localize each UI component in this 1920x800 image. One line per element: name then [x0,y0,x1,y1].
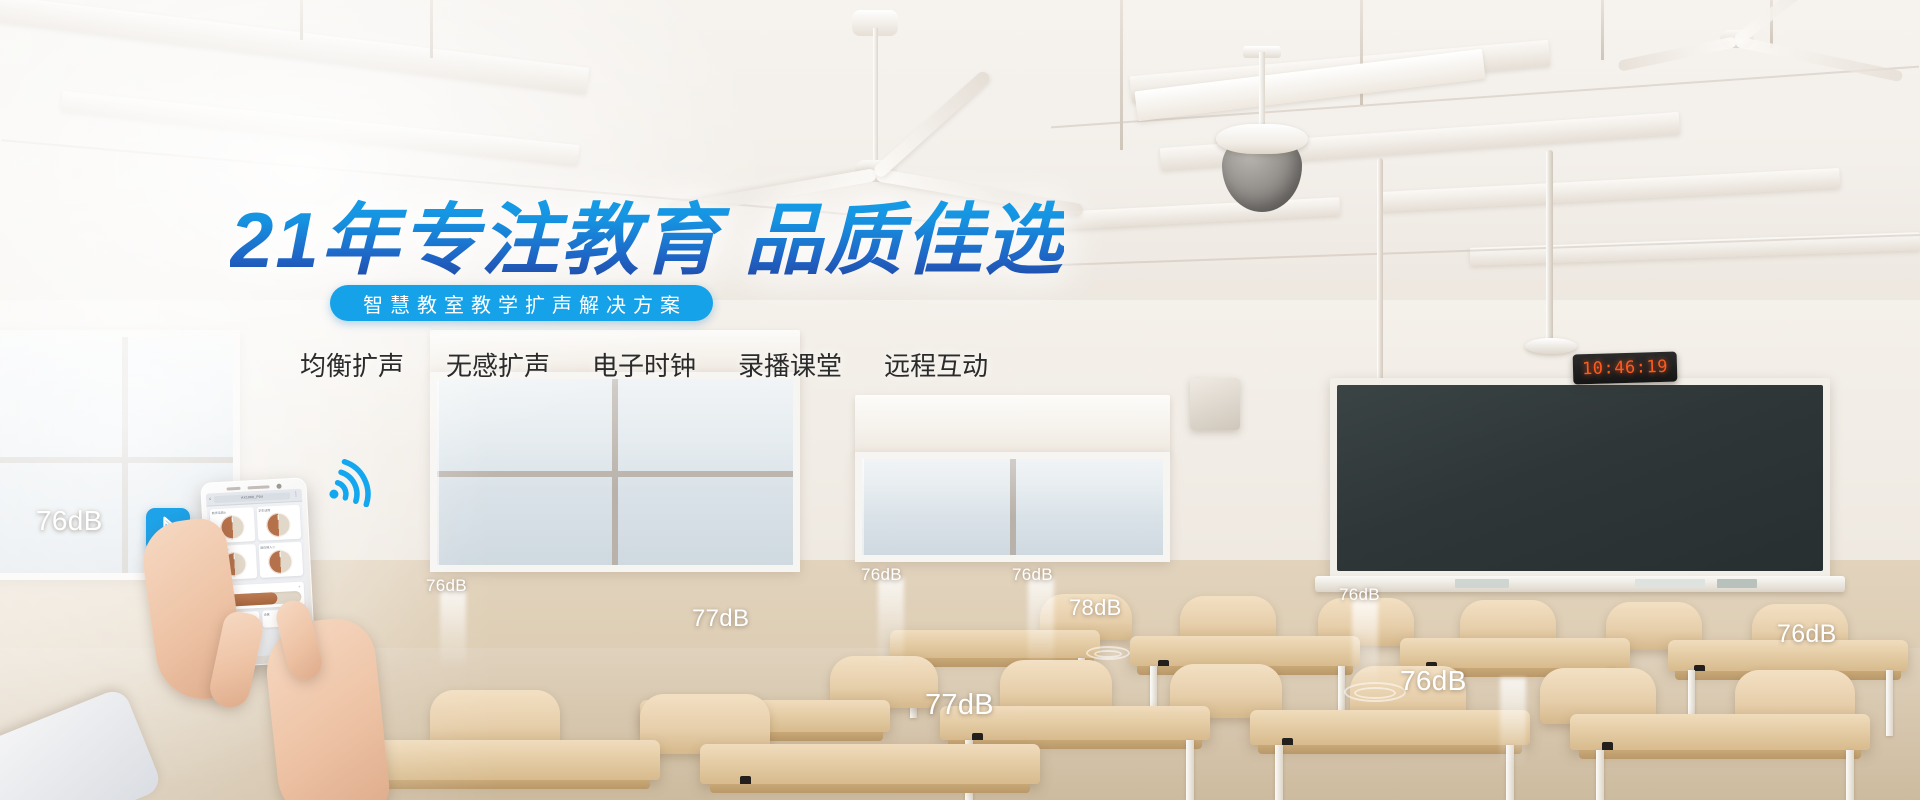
app-title: AX1060_P04 [214,492,290,503]
db-label: 76dB [36,505,103,537]
front-camera [276,483,281,488]
volume-knob[interactable] [266,512,291,537]
blackboard-rail [1315,576,1845,592]
wall-control-panel [1190,378,1240,430]
volume-knob[interactable] [268,549,293,574]
page-title: 21年专注教育 品质佳选 [230,178,1064,290]
blackboard-surface [1337,385,1823,571]
db-label: 76dB [1777,620,1837,649]
earpiece-speaker [226,486,240,490]
feature-list: 均衡扩声无感扩声电子时钟录播课堂远程互动 [300,346,988,383]
student-desk [890,630,1100,658]
camera-pole-left [1377,158,1383,408]
camera-pole-right [1546,150,1553,350]
db-label: 77dB [692,605,749,633]
student-desk [1570,714,1870,750]
db-label: 77dB [925,689,994,722]
window-middle [855,452,1170,562]
plus-icon[interactable]: ＋ [298,585,301,589]
channel-card[interactable]: 学生话筒 [256,505,301,541]
db-label: 76dB [1339,585,1380,605]
window-left-wide [430,372,800,572]
camera-head [1525,338,1577,354]
earpiece-grille [247,485,269,489]
student-desk-front [700,744,1040,784]
db-label: 76dB [861,565,902,585]
window-blind [855,395,1170,455]
digital-wall-clock: 10:46:19 [1573,352,1678,385]
student-desk [1400,638,1630,668]
feature-item-2: 电子时钟 [592,346,696,383]
clock-time: 10:46:19 [1582,357,1668,379]
channel-card[interactable]: 媒体输入二 [258,542,303,578]
subtitle-text: 智慧教室教学扩声解决方案 [356,289,687,318]
subtitle-pill: 智慧教室教学扩声解决方案 [330,285,713,321]
chevron-left-icon[interactable]: ‹ [209,496,211,502]
db-label: 76dB [426,576,467,596]
ceiling-fan-rod [873,28,878,168]
db-label: 78dB [1069,595,1122,621]
db-label: 76dB [1400,665,1467,697]
feature-item-4: 远程互动 [884,346,988,383]
feature-item-1: 无感扩声 [446,346,550,383]
pendant-speaker-cap [1216,124,1308,154]
feature-item-0: 均衡扩声 [300,346,404,383]
more-vertical-icon[interactable]: ⋮ [293,492,299,498]
student-desk [1130,636,1360,666]
wifi-signal-icon [324,455,380,507]
blackboard [1330,378,1830,578]
db-label: 76dB [1012,565,1053,585]
feature-item-3: 录播课堂 [738,346,842,383]
banner-stage: 10:46:19 [0,0,1920,800]
student-desk [1250,710,1530,745]
